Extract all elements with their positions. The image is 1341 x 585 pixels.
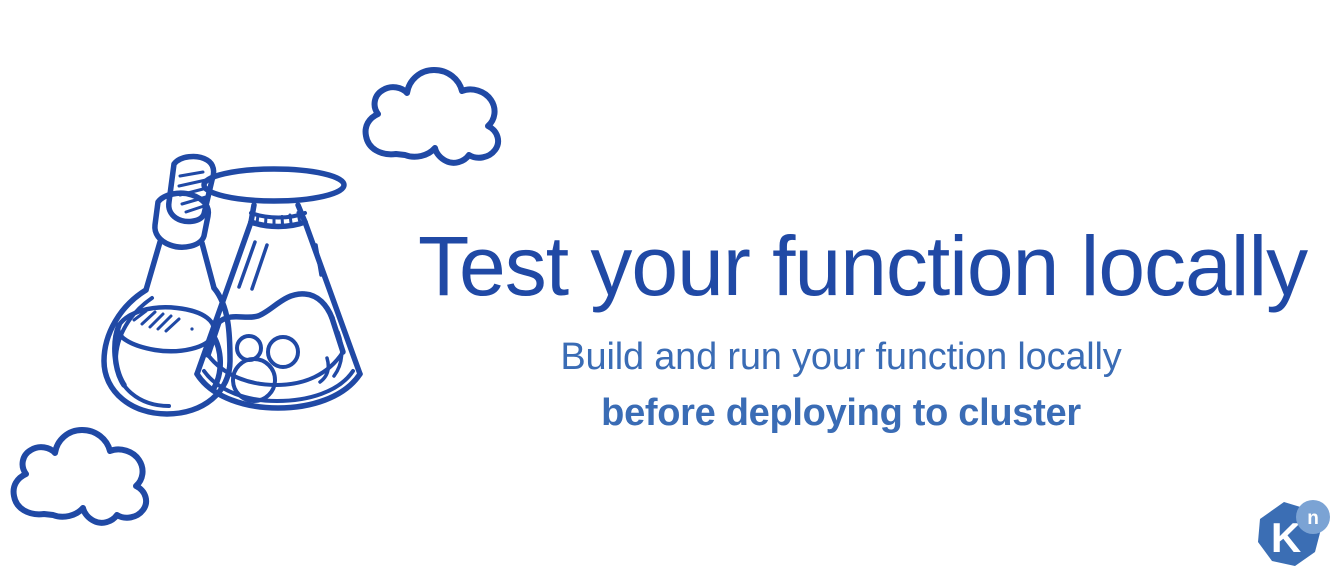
knative-logo: K n [1251,498,1333,576]
cloud-outline-secondary-icon [2,424,160,528]
headline-block: Test your function locally Build and run… [418,224,1264,438]
page-title: Test your function locally [418,224,1264,308]
subtitle-line-1: Build and run your function locally [418,332,1264,382]
logo-letter-n: n [1307,508,1319,529]
slide-canvas: Test your function locally Build and run… [0,0,1341,585]
subtitle-block: Build and run your function locally befo… [418,332,1264,438]
cloud-outline-icon [352,58,510,170]
laboratory-flasks-icon [62,142,392,424]
subtitle-line-2: before deploying to cluster [418,388,1264,438]
